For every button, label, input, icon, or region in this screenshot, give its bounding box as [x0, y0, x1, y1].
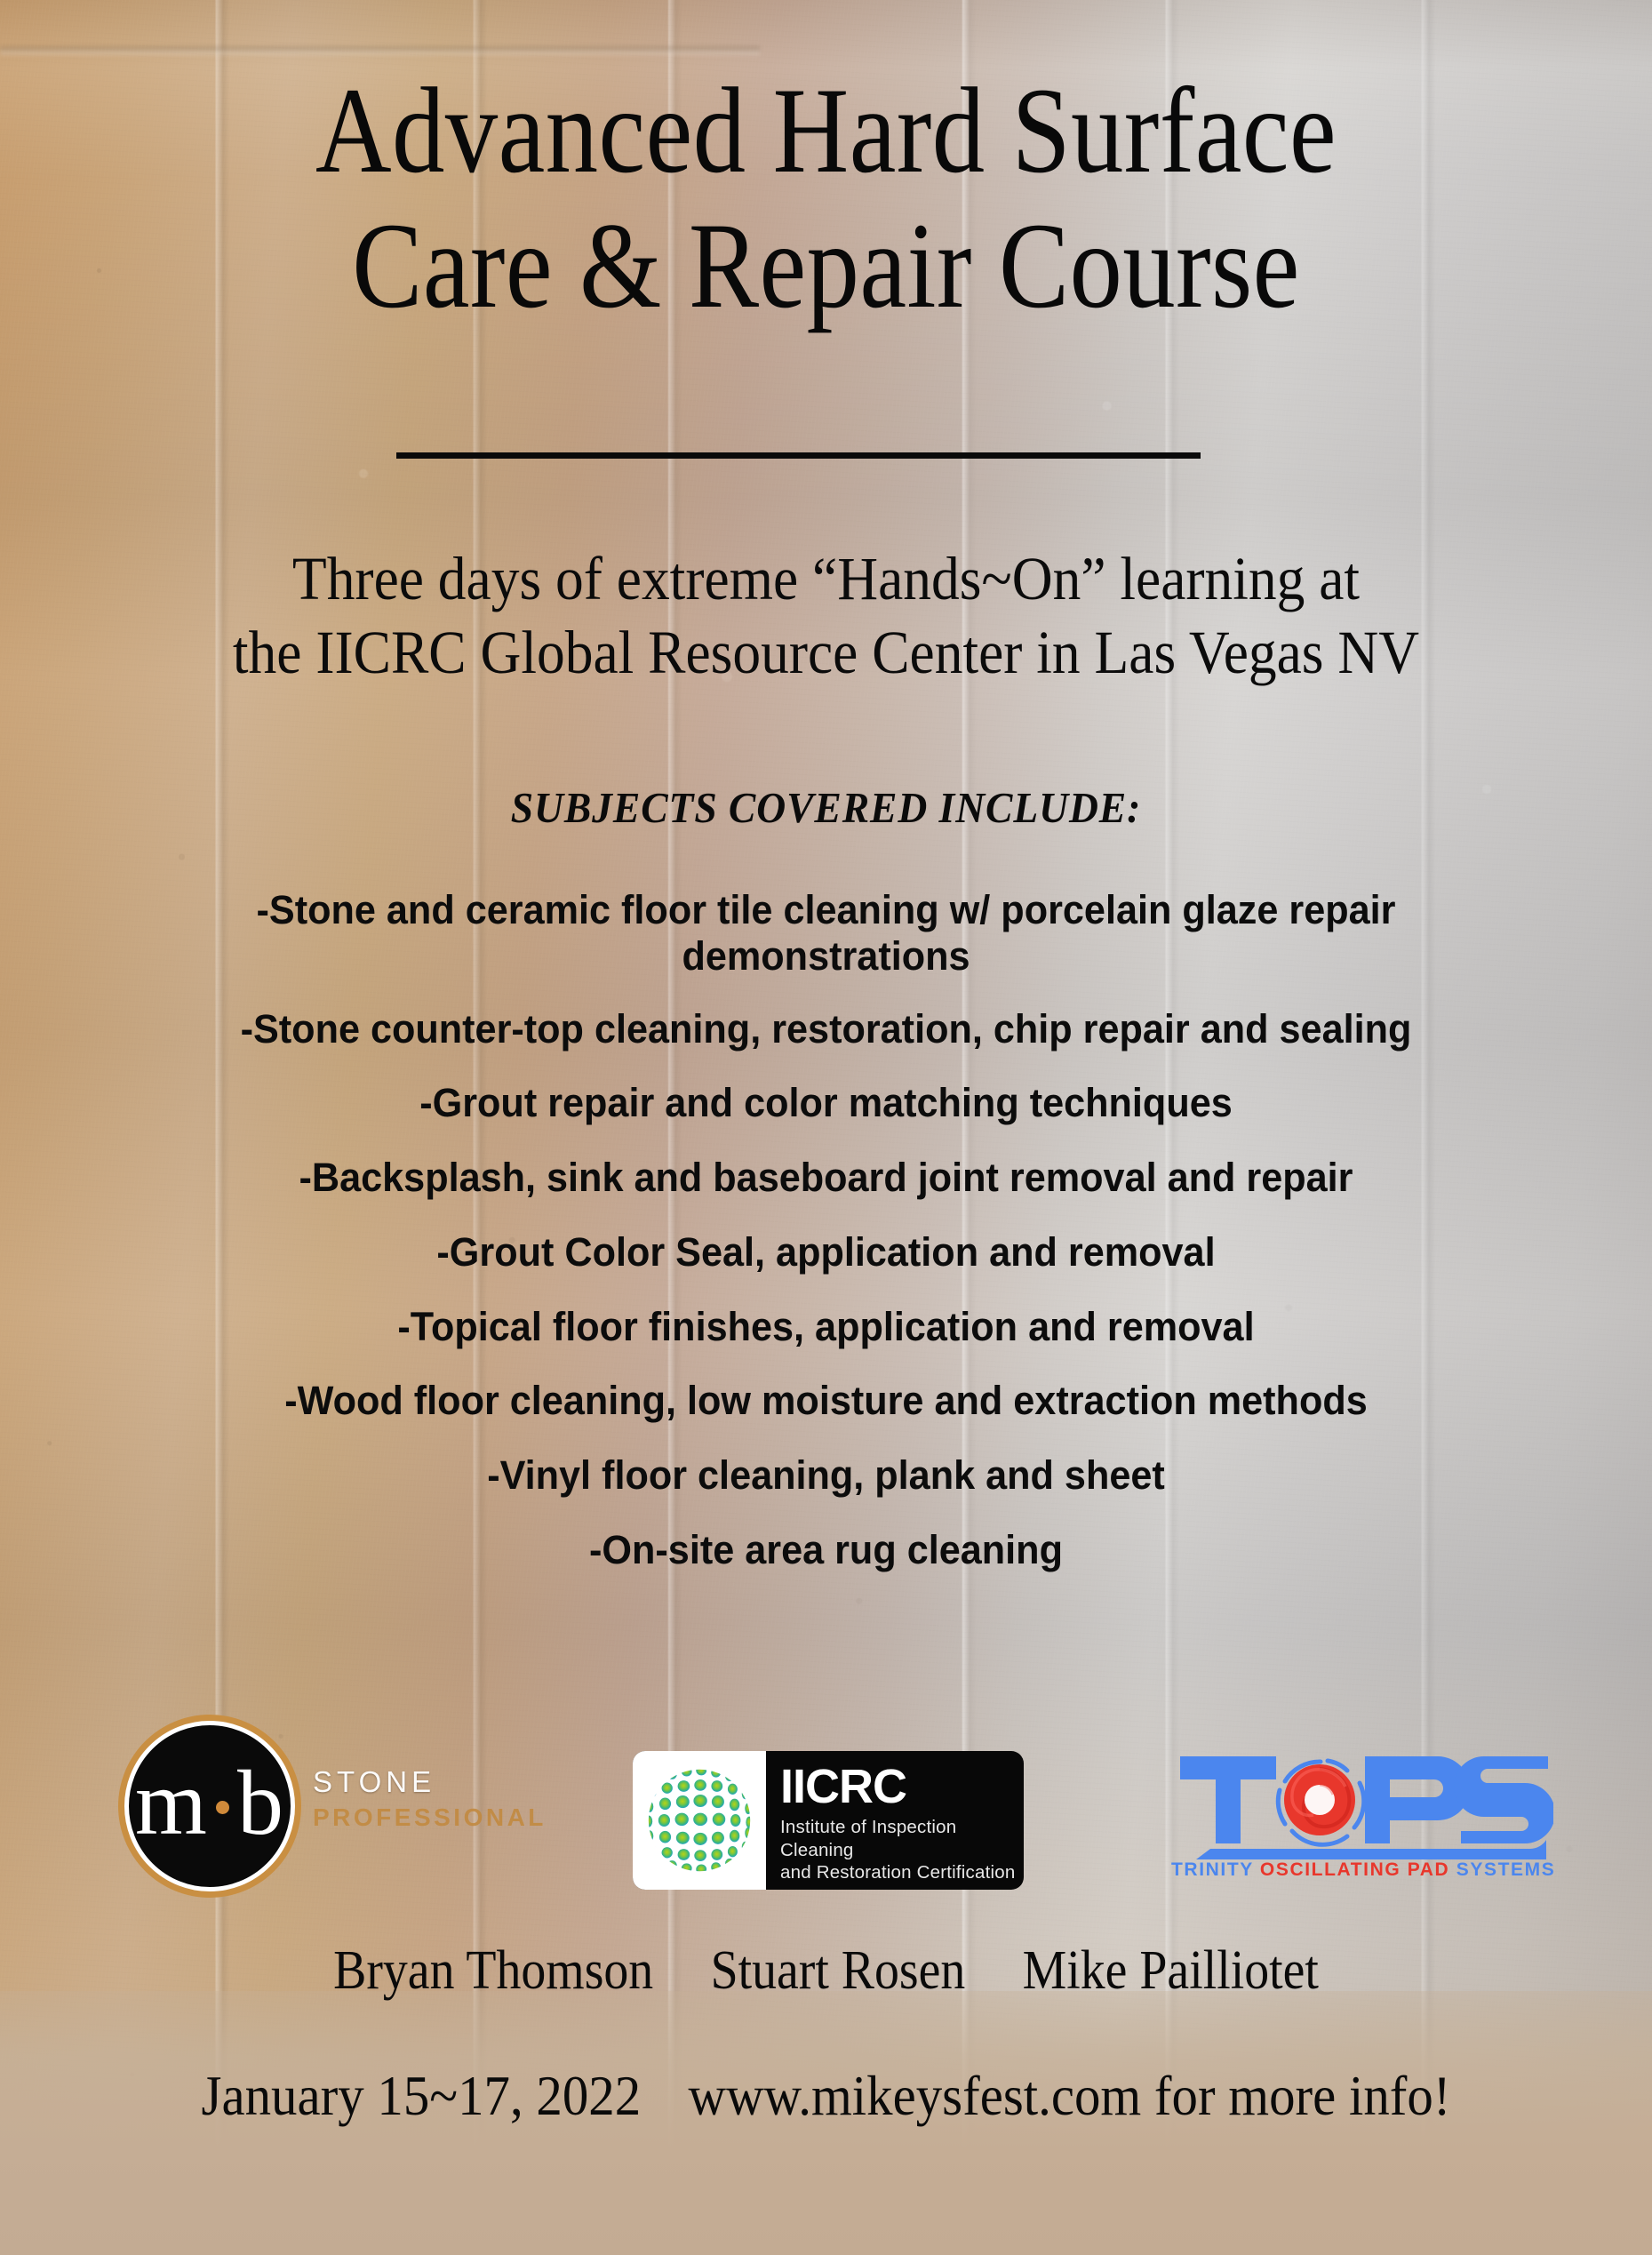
list-item: -Backsplash, sink and baseboard joint re… — [59, 1155, 1593, 1201]
date-and-website-line: January 15~17, 2022 www.mikeysfest.com f… — [66, 2067, 1585, 2124]
iicrc-tagline: Institute of Inspection Cleaning and Res… — [780, 1816, 1017, 1884]
poster-title-line-1: Advanced Hard Surface — [116, 69, 1536, 192]
presenter-name: Stuart Rosen — [711, 1940, 966, 2001]
list-item: -On-site area rug cleaning — [59, 1527, 1593, 1573]
mb-letter-b: b — [237, 1757, 284, 1850]
title-divider-rule — [396, 452, 1201, 459]
poster-title-line-2: Care & Repair Course — [116, 204, 1536, 327]
mb-word-stone: STONE — [313, 1765, 435, 1799]
iicrc-wordmark: IICRC — [780, 1763, 1017, 1811]
iicrc-logo: IICRC Institute of Inspection Cleaning a… — [633, 1751, 1024, 1890]
mb-monogram: mb — [129, 1725, 291, 1887]
presenter-name: Bryan Thomson — [333, 1940, 653, 2001]
iicrc-text-panel: IICRC Institute of Inspection Cleaning a… — [766, 1751, 1024, 1890]
presenters-line: Bryan Thomson Stuart Rosen Mike Pailliot… — [83, 1943, 1569, 1998]
list-item: -Wood floor cleaning, low moisture and e… — [59, 1378, 1593, 1424]
tops-tag-trinity: TRINITY — [1171, 1859, 1260, 1880]
mb-circle-mark: mb — [124, 1721, 295, 1891]
tops-wordmark-icon — [1171, 1735, 1553, 1867]
list-item: -Grout repair and color matching techniq… — [59, 1080, 1593, 1126]
tops-tag-systems: SYSTEMS — [1449, 1859, 1555, 1880]
mb-stone-professional-logo: mb STONE PROFESSIONAL — [116, 1715, 498, 1893]
list-item: -Stone and ceramic floor tile cleaning w… — [59, 887, 1593, 980]
tops-tag-oscillating: OSCILLATING PAD — [1260, 1859, 1449, 1880]
iicrc-globe-panel — [633, 1751, 766, 1890]
presenter-name: Mike Pailliotet — [1023, 1940, 1319, 2001]
list-item: -Vinyl floor cleaning, plank and sheet — [59, 1452, 1593, 1499]
mb-word-professional: PROFESSIONAL — [313, 1803, 547, 1832]
list-item: -Stone counter-top cleaning, restoration… — [59, 1006, 1593, 1052]
poster-subtitle-line-2: the IICRC Global Resource Center in Las … — [66, 622, 1585, 684]
mb-dot-icon — [216, 1801, 229, 1814]
subjects-list: -Stone and ceramic floor tile cleaning w… — [27, 887, 1625, 1602]
tops-tagline: TRINITY OSCILLATING PAD SYSTEMS — [1171, 1859, 1553, 1881]
list-item: -Grout Color Seal, application and remov… — [59, 1229, 1593, 1275]
website-link[interactable]: www.mikeysfest.com for more info! — [689, 2064, 1451, 2127]
poster-subtitle-line-1: Three days of extreme “Hands~On” learnin… — [66, 548, 1585, 610]
globe-icon — [641, 1762, 758, 1879]
mb-letter-m: m — [135, 1757, 208, 1850]
list-item: -Topical floor finishes, application and… — [59, 1304, 1593, 1350]
tops-logo: TRINITY OSCILLATING PAD SYSTEMS — [1171, 1735, 1553, 1895]
poster-canvas: Advanced Hard Surface Care & Repair Cour… — [0, 0, 1652, 2255]
event-date: January 15~17, 2022 — [202, 2064, 642, 2127]
subjects-covered-heading: SUBJECTS COVERED INCLUDE: — [58, 782, 1594, 833]
sponsor-logo-row: mb STONE PROFESSIONAL — [0, 1715, 1652, 1902]
